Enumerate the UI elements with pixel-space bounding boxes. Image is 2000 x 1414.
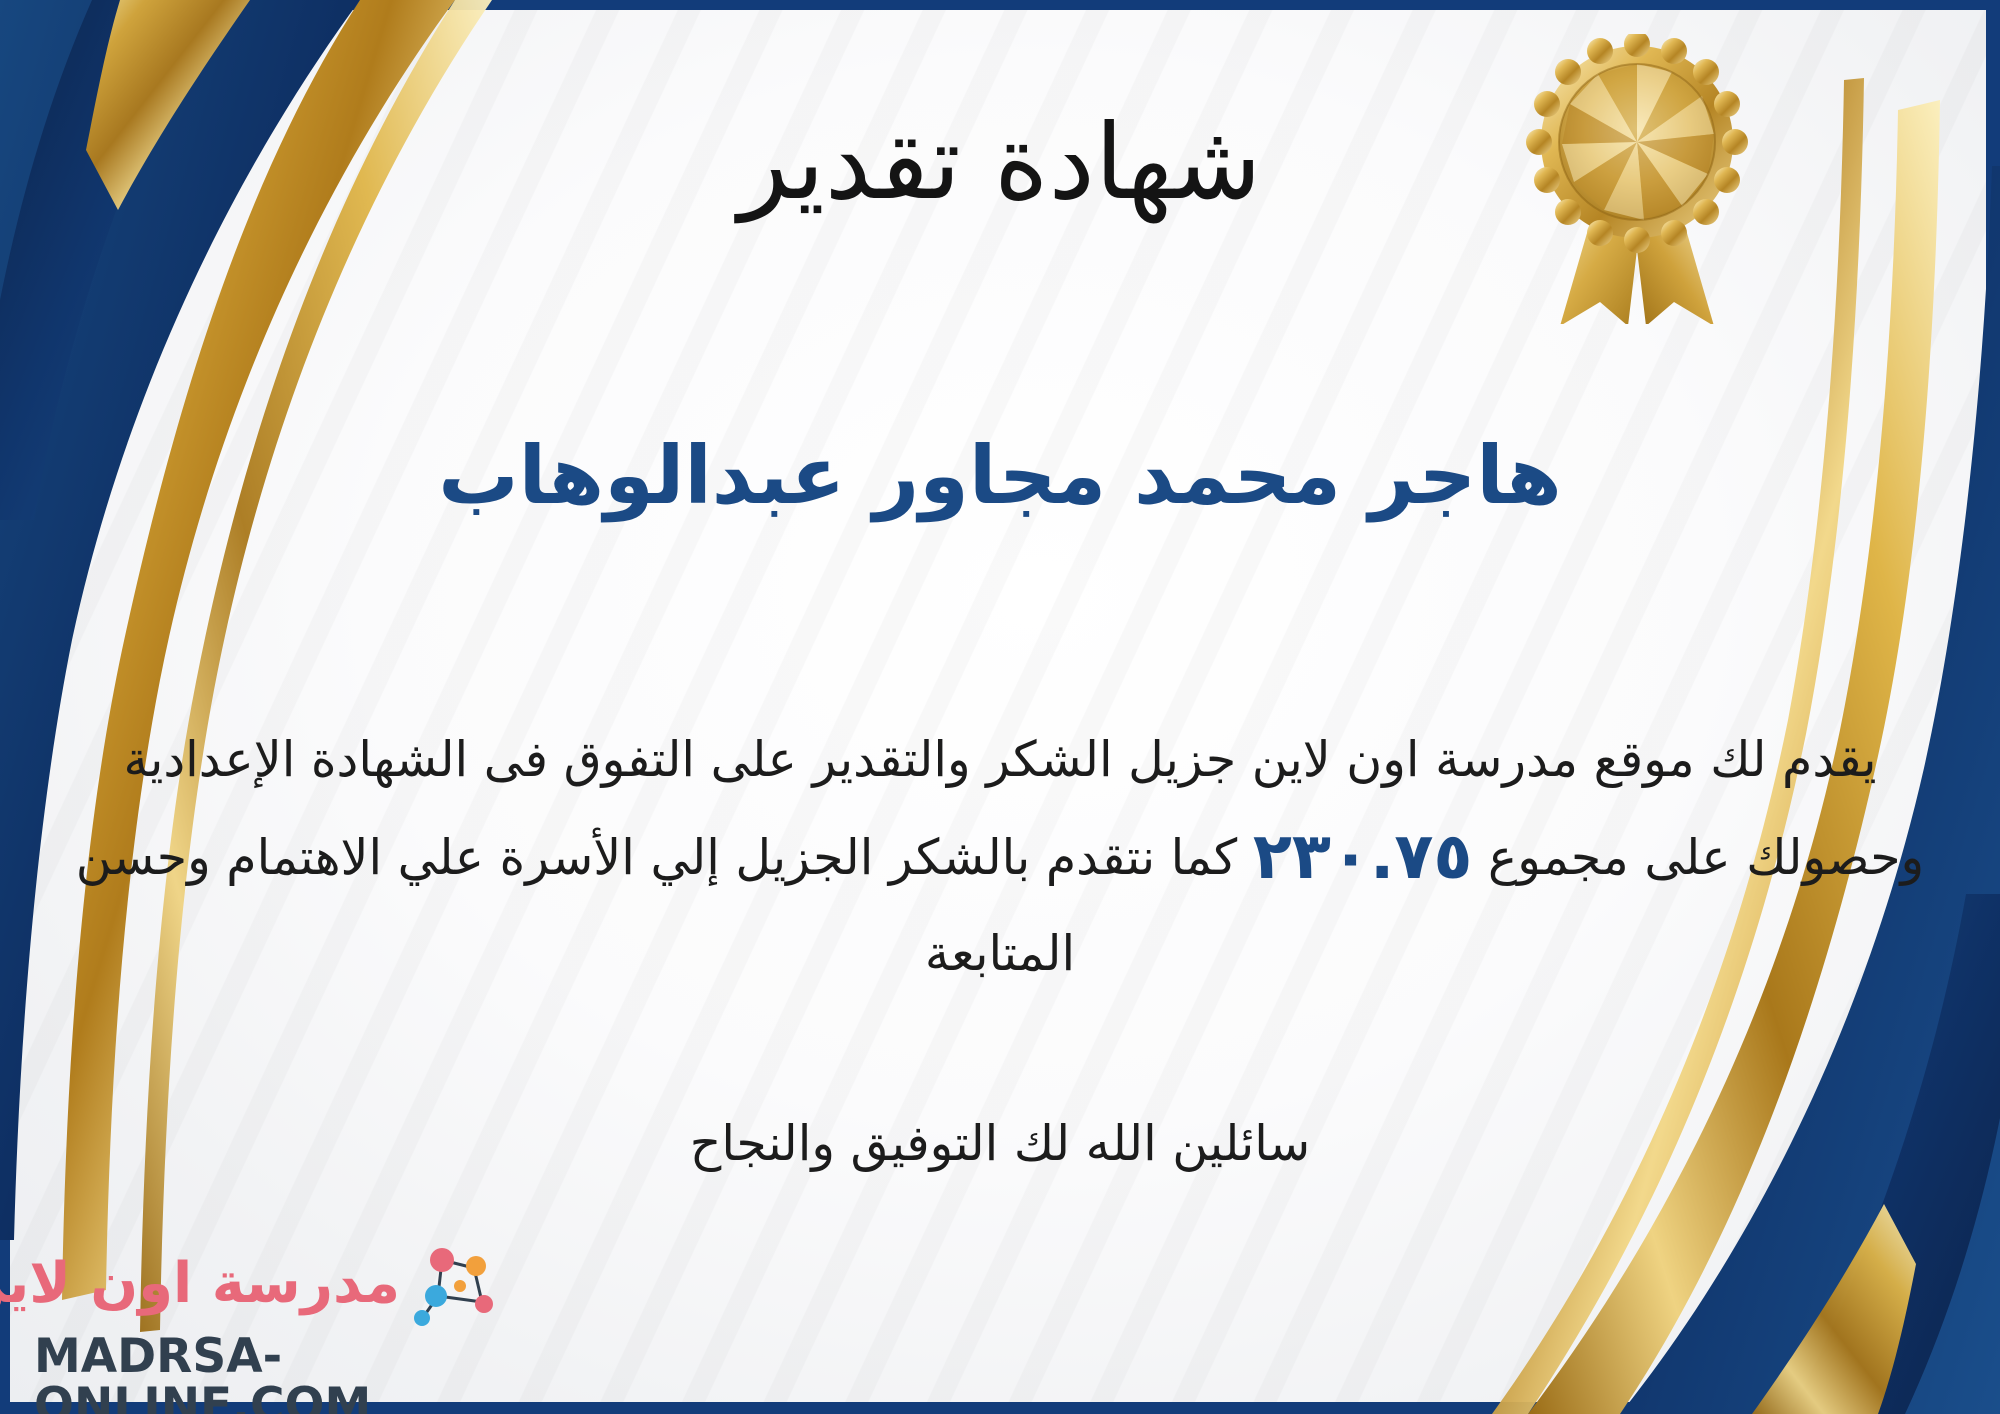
- brand-arabic-name: مدرسة اون لاين: [0, 1255, 400, 1314]
- recipient-name: هاجر محمد مجاور عبدالوهاب: [0, 430, 2000, 522]
- certificate-canvas: شهادة تقدير هاجر محمد مجاور عبدالوهاب يق…: [0, 0, 2000, 1414]
- brand-logo[interactable]: مدرسة اون لاين MADRSA-ONLINE.COM: [34, 1238, 504, 1378]
- score-value: ٢٣٠.٧٥: [1253, 820, 1473, 894]
- network-nodes-icon: [408, 1238, 504, 1330]
- brand-url: MADRSA-ONLINE.COM: [34, 1332, 504, 1414]
- certificate-title: شهادة تقدير: [0, 105, 2000, 219]
- certificate-body: يقدم لك موقع مدرسة اون لاين جزيل الشكر و…: [60, 718, 1940, 997]
- frame-edge-top: [0, 0, 2000, 10]
- brand-logo-row: مدرسة اون لاين: [0, 1238, 504, 1330]
- body-text-after-score: كما نتقدم بالشكر الجزيل إلي الأسرة علي ا…: [76, 829, 1237, 982]
- closing-line: سائلين الله لك التوفيق والنجاح: [60, 1105, 1940, 1183]
